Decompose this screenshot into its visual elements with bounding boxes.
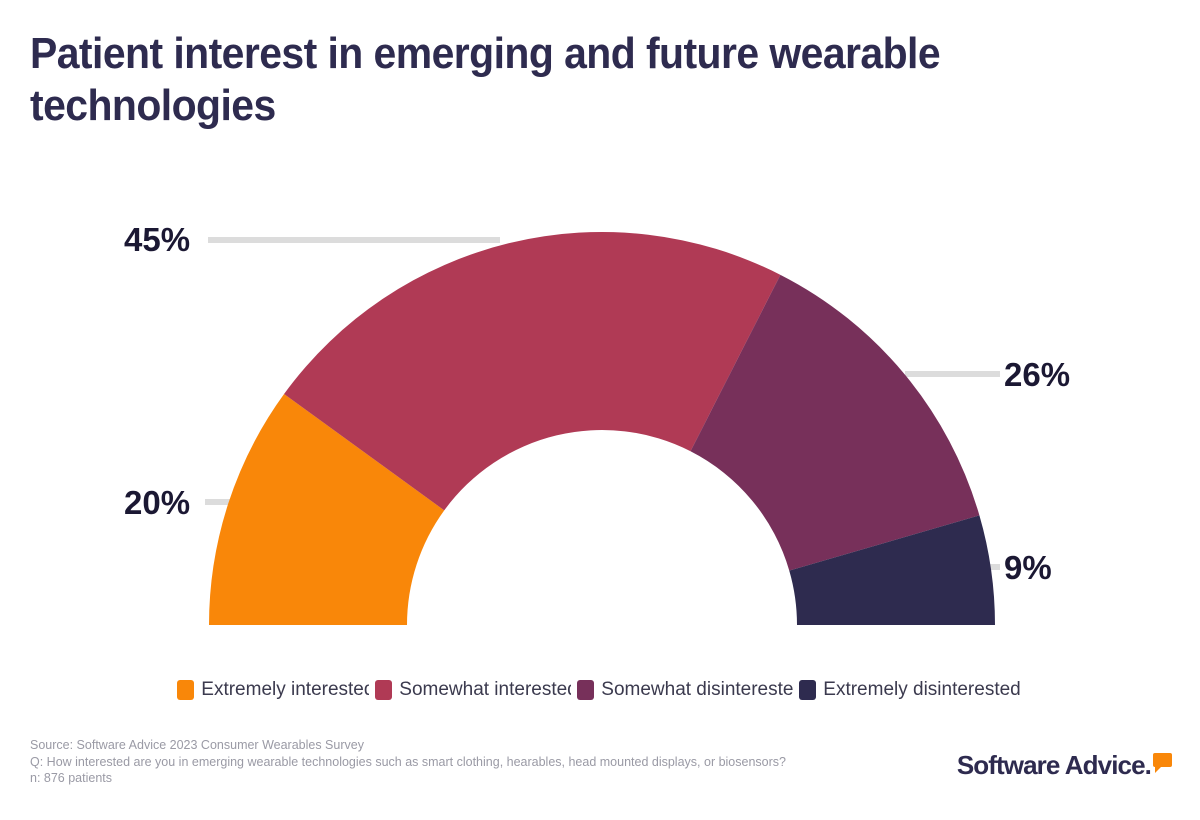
software-advice-logo: Software Advice.: [957, 752, 1172, 778]
footnote-source: Source: Software Advice 2023 Consumer We…: [30, 737, 820, 754]
donut-svg: [0, 0, 1200, 700]
logo-text: Software Advice.: [957, 752, 1151, 778]
legend-swatch-icon: [799, 680, 816, 700]
legend-item-label: Somewhat disinterested: [601, 679, 793, 701]
legend-item-extremely-interested[interactable]: Extremely interested: [177, 672, 371, 708]
slice-label-somewhat-interested: 45%: [124, 221, 190, 259]
legend-item-extremely-disinterested[interactable]: Extremely disinterested: [799, 672, 1022, 708]
donut-slices: [209, 232, 995, 625]
legend-swatch-icon: [577, 680, 594, 700]
legend-swatch-icon: [375, 680, 392, 700]
footnote-question: Q: How interested are you in emerging we…: [30, 754, 820, 771]
legend-item-label: Somewhat interested: [399, 679, 571, 701]
legend-item-somewhat-disinterested[interactable]: Somewhat disinterested: [577, 672, 795, 708]
legend-item-label: Extremely interested: [201, 679, 369, 701]
speech-bubble-icon: [1153, 753, 1172, 767]
slice-label-extremely-disinterested: 9%: [1004, 549, 1052, 587]
legend-swatch-icon: [177, 680, 194, 700]
slice-label-somewhat-disinterested: 26%: [1004, 356, 1070, 394]
slice-label-extremely-interested: 20%: [124, 484, 190, 522]
legend-item-somewhat-interested[interactable]: Somewhat interested: [375, 672, 573, 708]
footnote: Source: Software Advice 2023 Consumer We…: [30, 737, 820, 787]
half-donut-chart: 45% 20% 26% 9%: [0, 0, 1200, 700]
legend-item-label: Extremely disinterested: [823, 679, 1020, 701]
footnote-sample: n: 876 patients: [30, 770, 820, 787]
chart-legend: Extremely interested Somewhat interested…: [0, 672, 1200, 708]
